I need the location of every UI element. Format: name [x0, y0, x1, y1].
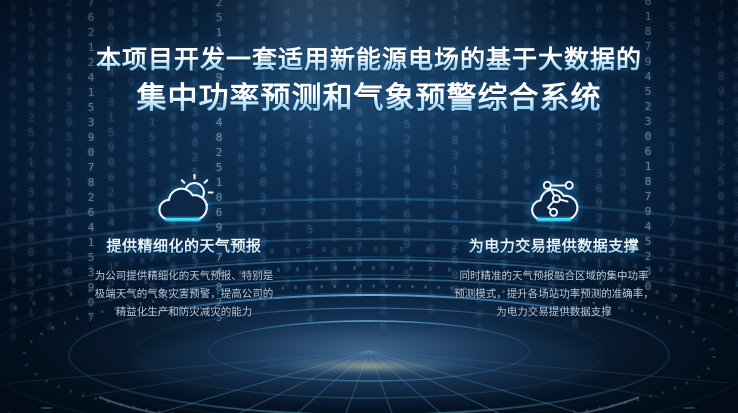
feature-heading-weather-forecast: 提供精细化的天气预报: [58, 238, 310, 256]
feature-body-line: 为电力交易提供数据支撑: [428, 303, 680, 321]
feature-body-power-trading: 同时精准的天气预报融合区域的集中功率 预测模式，提升各场站功率预测的准确率， 为…: [428, 267, 680, 321]
feature-body-weather-forecast: 为公司提供精细化的天气预报、特别是 极端天气的气象灾害预警，提高公司的 精益化生…: [58, 267, 310, 321]
feature-columns: 提供精细化的天气预报 为公司提供精细化的天气预报、特别是 极端天气的气象灾害预警…: [0, 168, 738, 321]
presentation-slide: 3 9 1 4 0 7 2 8 5 1 6 3 9 0 4 7 2 8 5 1 …: [0, 0, 738, 413]
feature-body-line: 精益化生产和防灾减灾的能力: [58, 303, 310, 321]
cloud-network-icon: [428, 168, 680, 226]
title-line-1: 本项目开发一套适用新能源电场的基于大数据的: [0, 46, 738, 75]
page-title: 本项目开发一套适用新能源电场的基于大数据的 集中功率预测和气象预警综合系统: [0, 46, 738, 116]
feature-column-weather-forecast: 提供精细化的天气预报 为公司提供精细化的天气预报、特别是 极端天气的气象灾害预警…: [58, 168, 310, 321]
title-line-2: 集中功率预测和气象预警综合系统: [0, 82, 738, 117]
feature-column-power-trading: 为电力交易提供数据支撑 同时精准的天气预报融合区域的集中功率 预测模式，提升各场…: [428, 168, 680, 321]
sun-cloud-icon: [58, 168, 310, 226]
feature-body-line: 为公司提供精细化的天气预报、特别是: [58, 267, 310, 285]
feature-heading-power-trading: 为电力交易提供数据支撑: [428, 238, 680, 256]
feature-body-line: 预测模式，提升各场站功率预测的准确率，: [428, 285, 680, 303]
feature-body-line: 极端天气的气象灾害预警，提高公司的: [58, 285, 310, 303]
feature-body-line: 同时精准的天气预报融合区域的集中功率: [428, 267, 680, 285]
